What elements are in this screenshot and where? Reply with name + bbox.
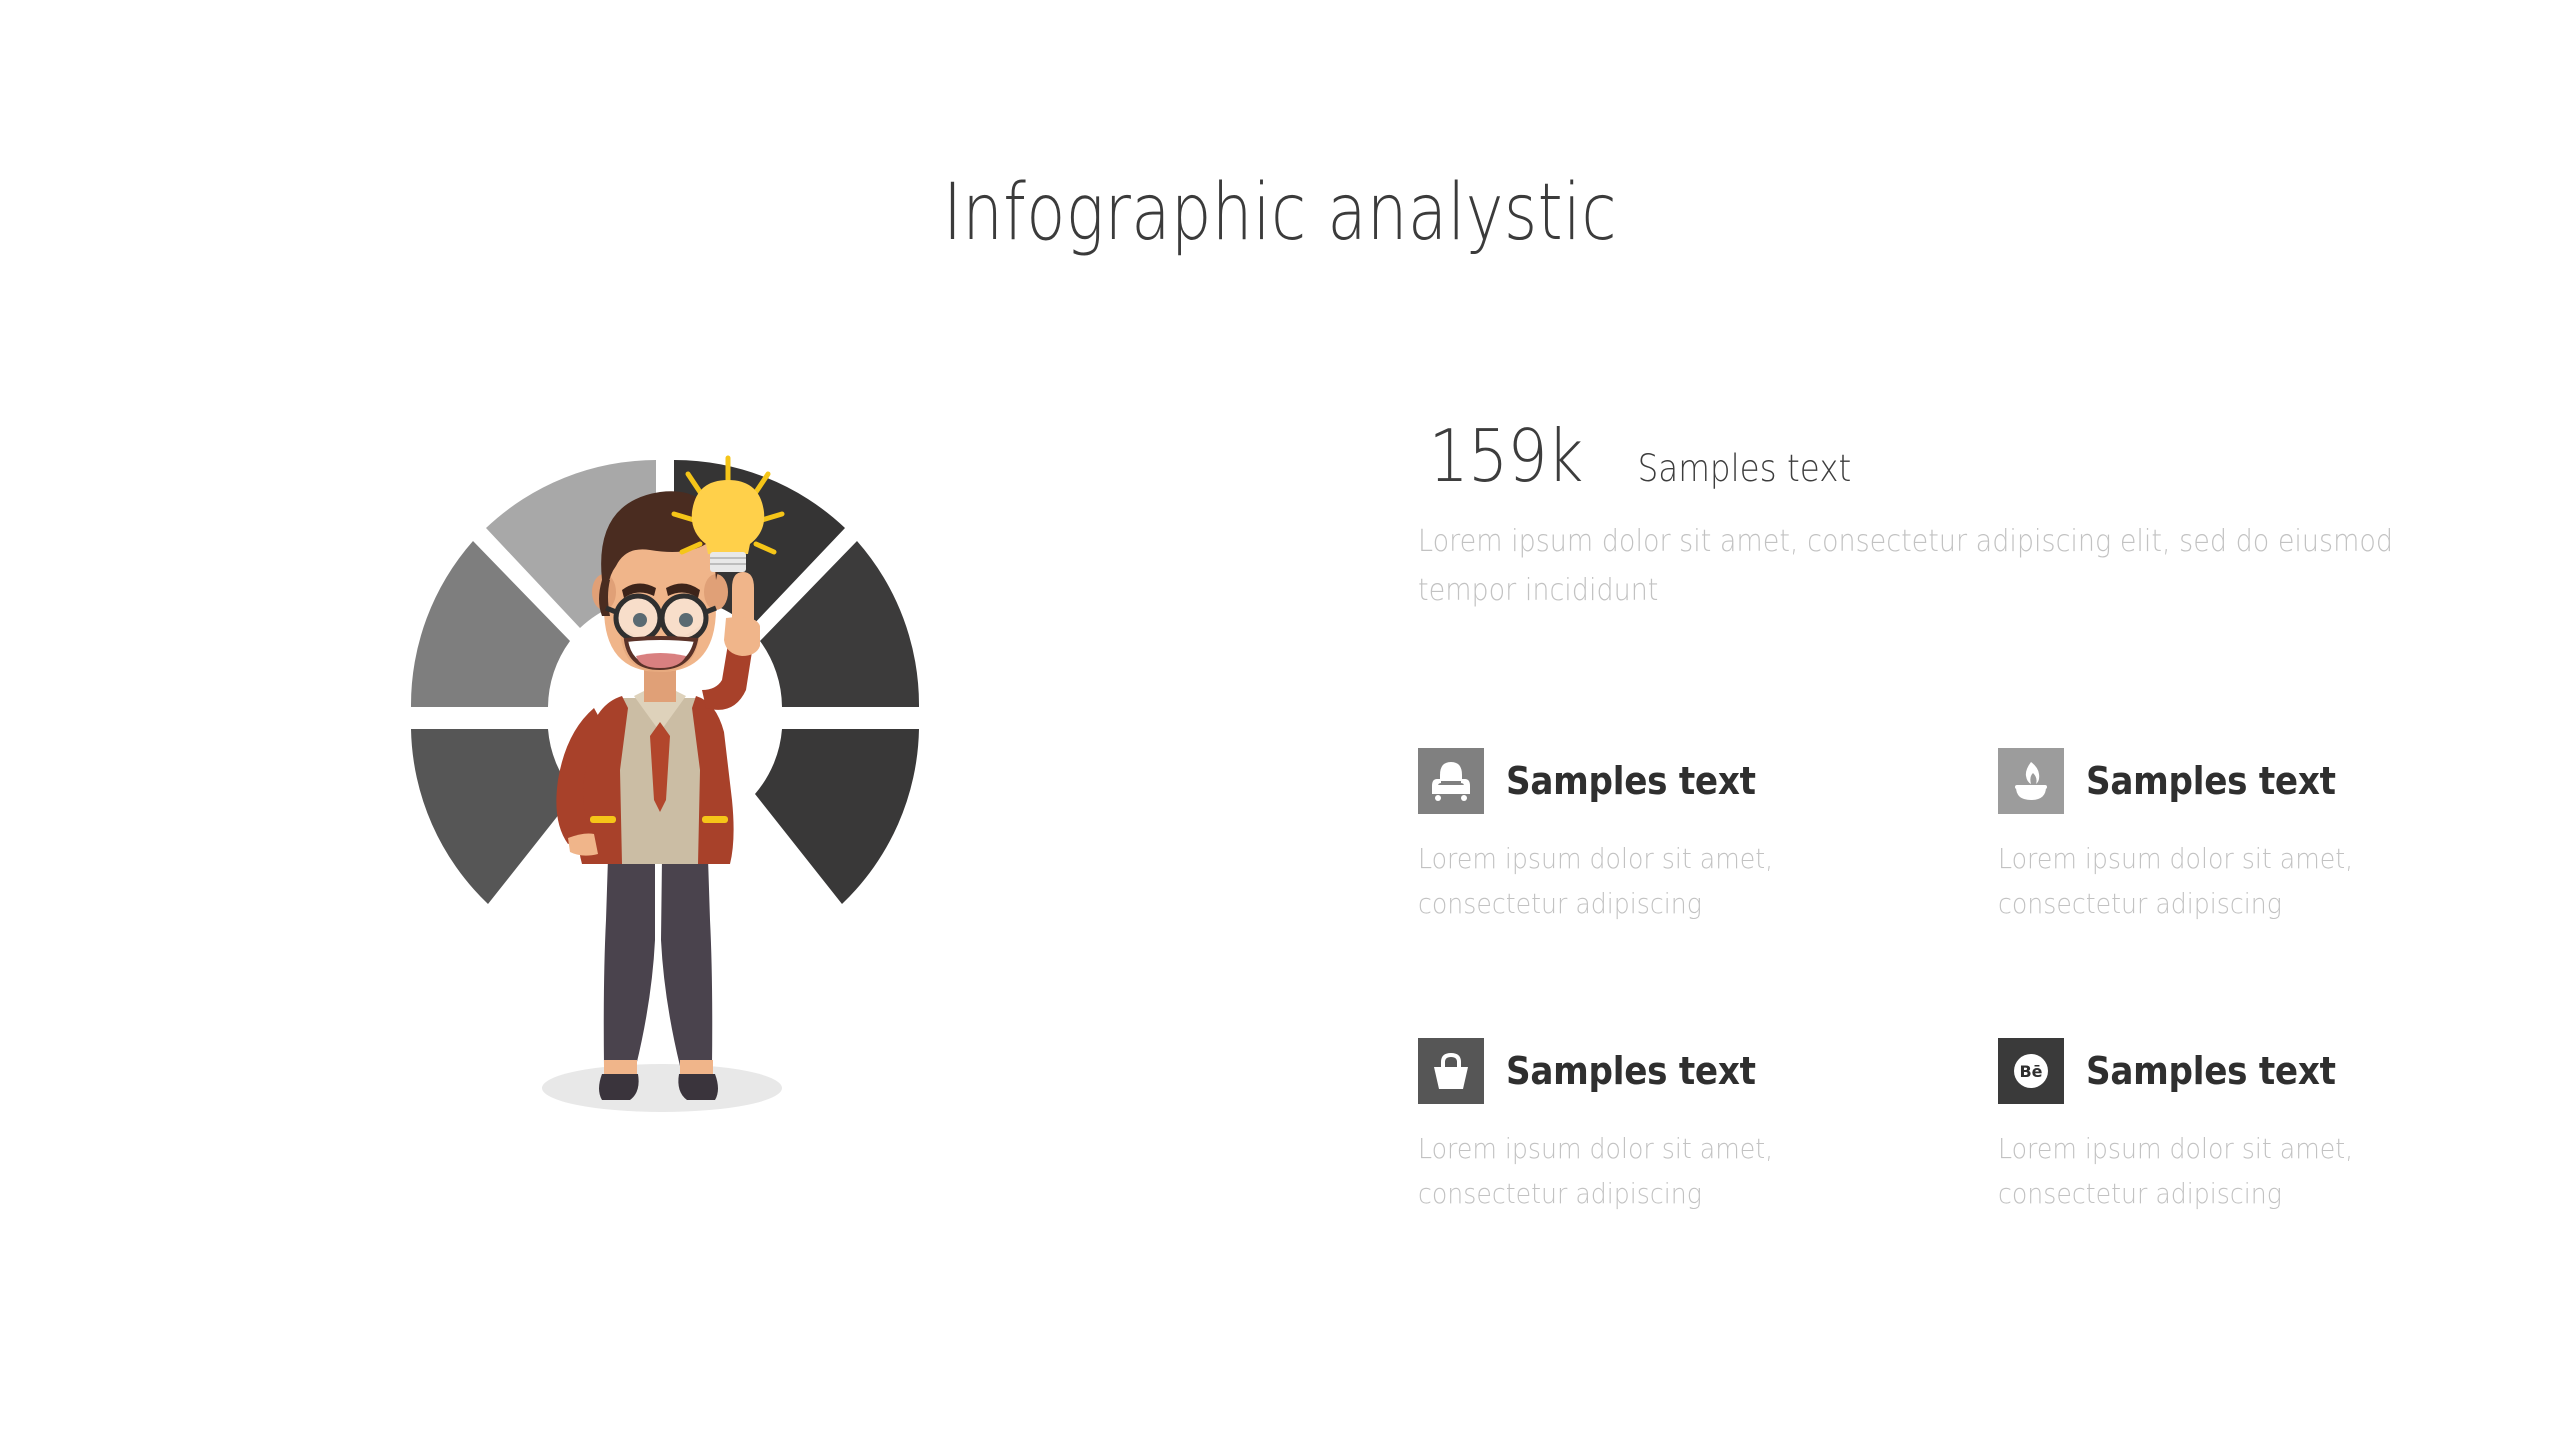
feature-card-1-description: Lorem ipsum dolor sit amet, consectetur …	[1418, 836, 1922, 927]
feature-card-3-title: Samples text	[1506, 1049, 1756, 1093]
stat-label: Samples text	[1638, 450, 1852, 487]
svg-text:Bē: Bē	[2019, 1062, 2042, 1081]
feature-card-2-title: Samples text	[2086, 759, 2336, 803]
infographic-slide: Infographic analystic	[0, 0, 2560, 1440]
feature-card-2[interactable]: Samples text Lorem ipsum dolor sit amet,…	[1998, 748, 2518, 1038]
feature-cards-grid: Samples text Lorem ipsum dolor sit amet,…	[1418, 748, 2518, 1328]
stat-block: 159k Samples text Lorem ipsum dolor sit …	[1418, 420, 2478, 615]
armchair-icon	[1429, 759, 1473, 803]
pocket-accent-left	[590, 816, 616, 823]
feature-card-1[interactable]: Samples text Lorem ipsum dolor sit amet,…	[1418, 748, 1998, 1038]
shoe-right	[678, 1074, 718, 1100]
sock-right	[680, 1060, 713, 1076]
feature-card-1-title: Samples text	[1506, 759, 1756, 803]
armchair-icon-tile[interactable]	[1418, 748, 1484, 814]
fist-right	[724, 617, 760, 656]
shopping-bag-icon-tile[interactable]	[1418, 1038, 1484, 1104]
incense-flame-bowl-icon-tile[interactable]	[1998, 748, 2064, 814]
feature-card-4[interactable]: Bē Samples text Lorem ipsum dolor sit am…	[1998, 1038, 2518, 1328]
feature-card-4-title: Samples text	[2086, 1049, 2336, 1093]
feature-card-2-description: Lorem ipsum dolor sit amet, consectetur …	[1998, 836, 2502, 927]
stat-headline: 159k Samples text	[1418, 420, 2478, 492]
donut-chart-illustration	[245, 440, 1085, 1140]
feature-card-2-head: Samples text	[1998, 748, 2518, 814]
feature-card-4-description: Lorem ipsum dolor sit amet, consectetur …	[1998, 1126, 2502, 1217]
behance-logo-icon-tile[interactable]: Bē	[1998, 1038, 2064, 1104]
feature-card-3-description: Lorem ipsum dolor sit amet, consectetur …	[1418, 1126, 1922, 1217]
hand-left	[568, 834, 598, 856]
behance-logo-icon: Bē	[2009, 1049, 2053, 1093]
legs	[604, 858, 713, 1066]
eye-right	[679, 613, 693, 627]
pocket-accent-right	[702, 816, 728, 823]
feature-card-3[interactable]: Samples text Lorem ipsum dolor sit amet,…	[1418, 1038, 1998, 1328]
businessman-illustration	[510, 440, 830, 1140]
shopping-bag-icon	[1429, 1049, 1473, 1093]
sock-left	[604, 1060, 637, 1076]
stat-value: 159k	[1429, 420, 1583, 492]
incense-flame-bowl-icon	[2009, 759, 2053, 803]
feature-card-3-head: Samples text	[1418, 1038, 1998, 1104]
feature-card-1-head: Samples text	[1418, 748, 1998, 814]
feature-card-4-head: Bē Samples text	[1998, 1038, 2518, 1104]
page-title: Infographic analystic	[230, 168, 2329, 258]
ground-shadow	[542, 1064, 782, 1112]
eye-left	[633, 613, 647, 627]
shoe-left	[599, 1074, 639, 1100]
stat-description: Lorem ipsum dolor sit amet, consectetur …	[1418, 518, 2426, 615]
